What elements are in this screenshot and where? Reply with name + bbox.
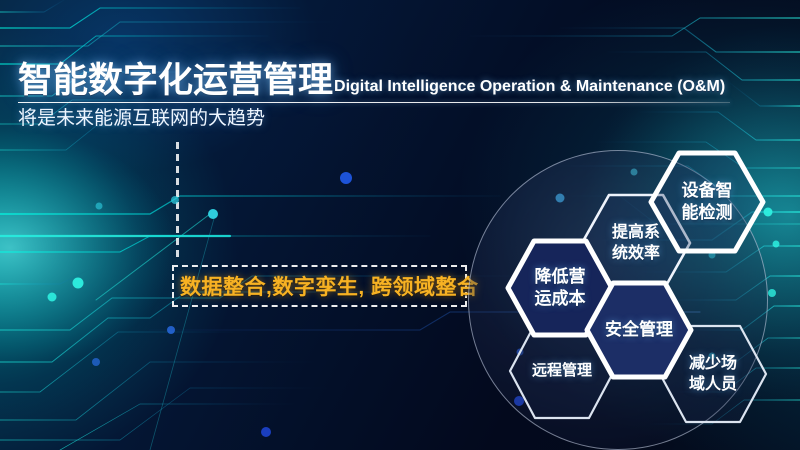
- slide-header: 智能数字化运营管理 Digital Intelligence Operation…: [0, 52, 800, 98]
- hexagon-equipment-smart-detection[interactable]: 设备智 能检测: [648, 150, 766, 254]
- slide-canvas: 智能数字化运营管理 Digital Intelligence Operation…: [0, 0, 800, 450]
- title-divider: [18, 102, 730, 103]
- kicker-text: 数据整合,数字孪生, 跨领域整合: [180, 270, 470, 302]
- page-title-en: Digital Intelligence Operation & Mainten…: [334, 79, 725, 95]
- page-subtitle-cn: 将是未来能源互联网的大趋势: [18, 108, 265, 130]
- title-row: 智能数字化运营管理 Digital Intelligence Operation…: [0, 52, 800, 98]
- page-title-cn: 智能数字化运营管理: [18, 63, 333, 98]
- hexagon-safety-management[interactable]: 安全管理: [584, 280, 694, 380]
